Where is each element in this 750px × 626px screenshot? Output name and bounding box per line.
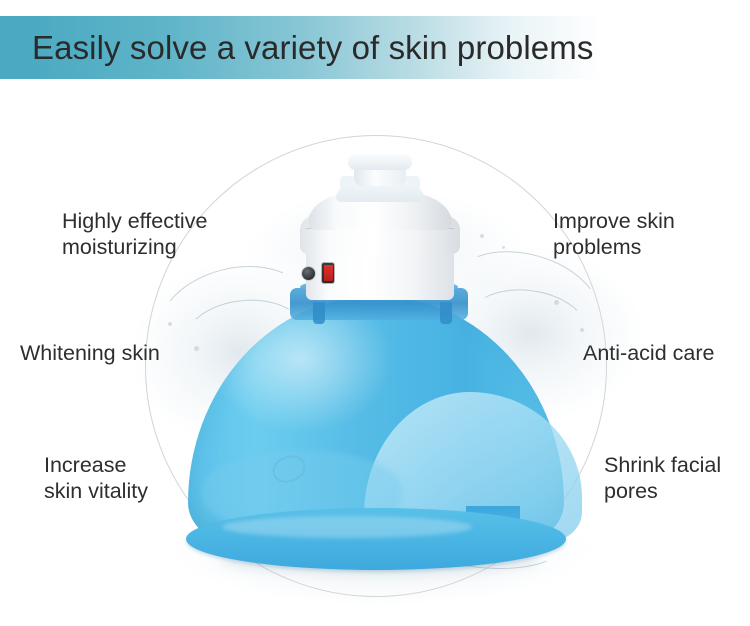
page-title: Easily solve a variety of skin problems [32, 24, 732, 72]
water-droplet [480, 234, 484, 238]
dome-rim-highlight [222, 516, 472, 538]
feature-label-improve-skin-problems: Improve skin problems [553, 208, 675, 260]
collar-tab [440, 302, 452, 324]
feature-label-anti-acid-care: Anti-acid care [583, 340, 714, 366]
product-feature-infographic: Easily solve a variety of skin problems [0, 0, 750, 626]
water-droplet [580, 328, 584, 332]
power-switch-rocker [324, 265, 333, 281]
feature-label-whitening-skin: Whitening skin [20, 340, 160, 366]
feature-label-highly-effective-moisturizing: Highly effective moisturizing [62, 208, 207, 260]
water-droplet [502, 246, 505, 249]
product-image [150, 150, 610, 590]
feature-label-shrink-facial-pores: Shrink facial pores [604, 452, 721, 504]
collar-tab [313, 302, 325, 324]
nozzle-cap [348, 154, 412, 170]
water-droplet [168, 322, 172, 326]
water-droplet [554, 300, 559, 305]
water-droplet [194, 346, 199, 351]
power-socket [302, 267, 315, 280]
feature-label-increase-skin-vitality: Increase skin vitality [44, 452, 148, 504]
